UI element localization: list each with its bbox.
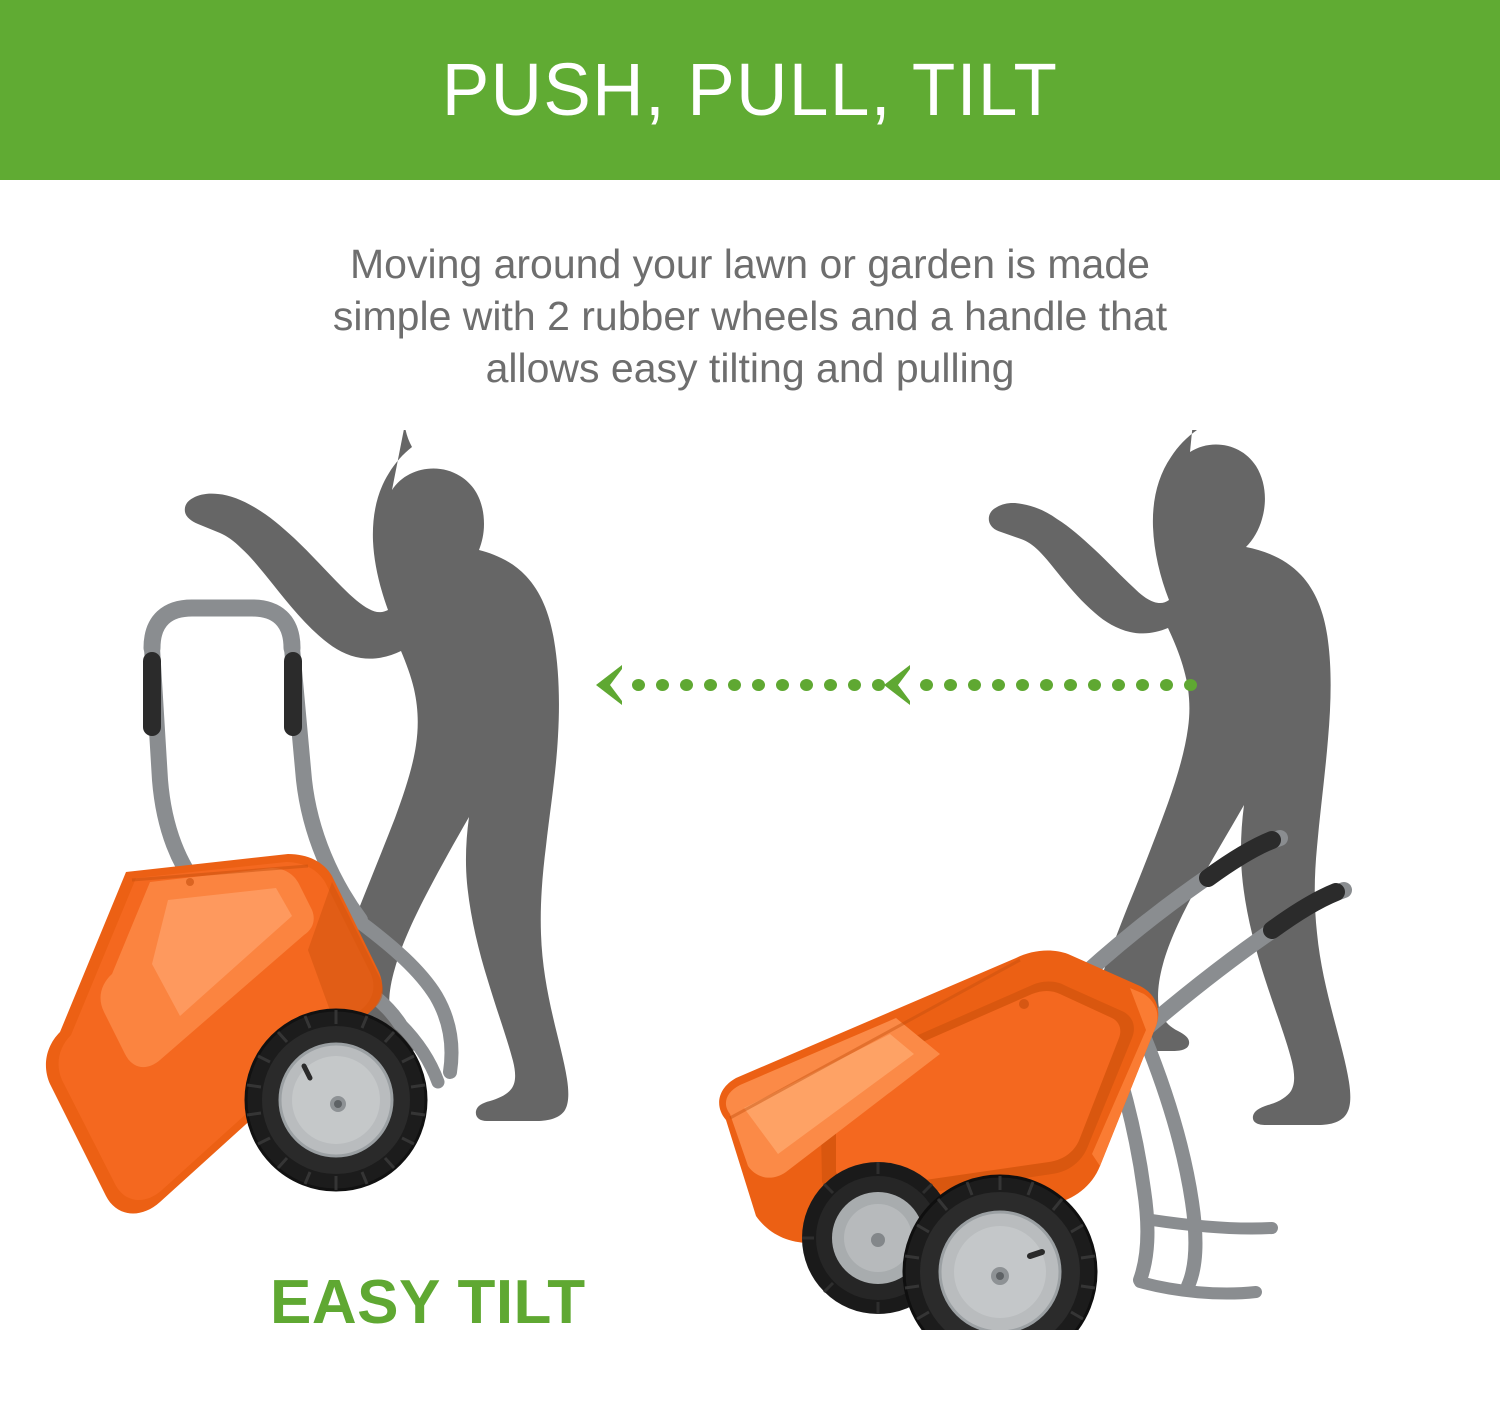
arrow-dot — [1088, 679, 1101, 691]
infographic-page: PUSH, PULL, TILT Moving around your lawn… — [0, 0, 1500, 1418]
arrow-dot — [656, 679, 669, 691]
arrow-dot — [992, 679, 1005, 691]
arrow-dot — [944, 679, 957, 691]
dotted-arrow-right — [884, 662, 1208, 708]
arrow-dot — [1160, 679, 1173, 691]
arrow-dot — [824, 679, 837, 691]
handle-grip-right — [284, 652, 302, 736]
direction-arrows — [596, 662, 1156, 708]
arrow-dot — [1040, 679, 1053, 691]
arrow-dot — [800, 679, 813, 691]
arrow-head-icon — [596, 665, 622, 705]
tray-rivet — [186, 878, 194, 886]
arrow-dot — [776, 679, 789, 691]
dotted-arrow-left — [596, 662, 920, 708]
panel-push-or-pull: PUSH OR PULL — [700, 430, 1480, 1330]
handle-grip-left — [143, 652, 161, 736]
subtitle-line-3: allows easy tilting and pulling — [0, 342, 1500, 394]
arrow-dot — [920, 679, 933, 691]
arrow-dot — [1016, 679, 1029, 691]
tray-rivet — [1019, 999, 1029, 1009]
arrow-dot — [1136, 679, 1149, 691]
easy-tilt-illustration — [40, 430, 700, 1330]
page-title: PUSH, PULL, TILT — [442, 53, 1059, 127]
arrow-dot — [1064, 679, 1077, 691]
push-or-pull-illustration — [700, 430, 1480, 1330]
cart-wheel — [246, 1010, 426, 1190]
arrow-dot — [1184, 679, 1197, 691]
arrow-dot — [704, 679, 717, 691]
panel-easy-tilt: EASY TILT — [40, 430, 700, 1330]
arrow-dot — [728, 679, 741, 691]
arrow-dot — [1112, 679, 1125, 691]
subtitle-line-1: Moving around your lawn or garden is mad… — [0, 238, 1500, 290]
caption-easy-tilt: EASY TILT — [270, 1272, 586, 1334]
subtitle-line-2: simple with 2 rubber wheels and a handle… — [0, 290, 1500, 342]
arrow-dot — [848, 679, 861, 691]
arrow-dot — [632, 679, 645, 691]
arrow-dot — [680, 679, 693, 691]
arrow-dot — [968, 679, 981, 691]
subtitle-block: Moving around your lawn or garden is mad… — [0, 238, 1500, 394]
header-banner: PUSH, PULL, TILT — [0, 0, 1500, 180]
arrow-head-icon — [884, 665, 910, 705]
arrow-dot — [752, 679, 765, 691]
